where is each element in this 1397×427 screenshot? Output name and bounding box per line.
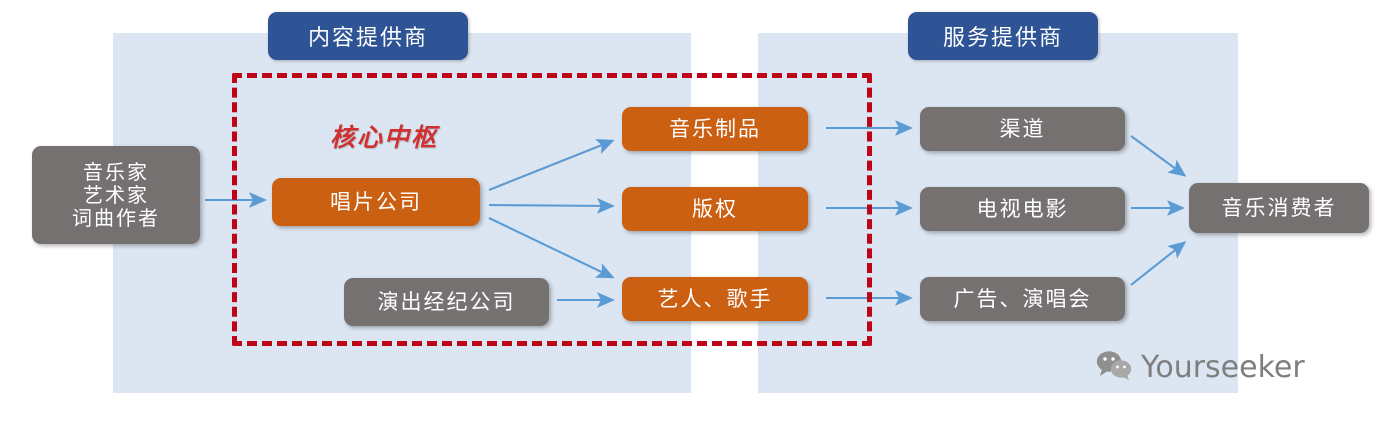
node-tv-film-label: 电视电影 bbox=[977, 197, 1069, 221]
node-record-label-label: 唱片公司 bbox=[330, 190, 422, 214]
node-ads-concerts-label: 广告、演唱会 bbox=[954, 287, 1092, 311]
watermark: Yourseeker bbox=[1096, 350, 1305, 385]
node-ads-concerts: 广告、演唱会 bbox=[920, 277, 1125, 321]
wechat-icon bbox=[1096, 350, 1132, 385]
section-header-content-provider-label: 内容提供商 bbox=[308, 20, 428, 52]
node-performance-agency-label: 演出经纪公司 bbox=[378, 290, 516, 314]
node-music-consumers-label: 音乐消费者 bbox=[1222, 196, 1337, 220]
node-music-products: 音乐制品 bbox=[622, 107, 808, 151]
node-creators-line-2: 艺术家 bbox=[83, 184, 149, 207]
node-record-label: 唱片公司 bbox=[272, 178, 480, 226]
node-music-products-label: 音乐制品 bbox=[669, 117, 761, 141]
node-channel: 渠道 bbox=[920, 107, 1125, 151]
node-music-consumers: 音乐消费者 bbox=[1189, 183, 1369, 233]
node-artists-singers: 艺人、歌手 bbox=[622, 277, 808, 321]
watermark-text: Yourseeker bbox=[1141, 350, 1305, 385]
node-artists-singers-label: 艺人、歌手 bbox=[658, 287, 773, 311]
node-creators-line-3: 词曲作者 bbox=[72, 207, 160, 230]
node-copyright: 版权 bbox=[622, 187, 808, 231]
node-tv-film: 电视电影 bbox=[920, 187, 1125, 231]
node-creators: 音乐家 艺术家 词曲作者 bbox=[32, 146, 200, 244]
node-creators-line-1: 音乐家 bbox=[83, 161, 149, 184]
diagram-canvas: 内容提供商 服务提供商 核心中枢 音乐家 艺术家 词曲作者 唱片公司 演出经纪公… bbox=[0, 0, 1397, 427]
section-header-service-provider-label: 服务提供商 bbox=[943, 20, 1063, 52]
node-channel-label: 渠道 bbox=[1000, 117, 1046, 141]
node-copyright-label: 版权 bbox=[692, 197, 738, 221]
section-header-content-provider: 内容提供商 bbox=[268, 12, 468, 60]
core-hub-label: 核心中枢 bbox=[330, 118, 438, 154]
section-header-service-provider: 服务提供商 bbox=[908, 12, 1098, 60]
node-performance-agency: 演出经纪公司 bbox=[344, 278, 549, 326]
